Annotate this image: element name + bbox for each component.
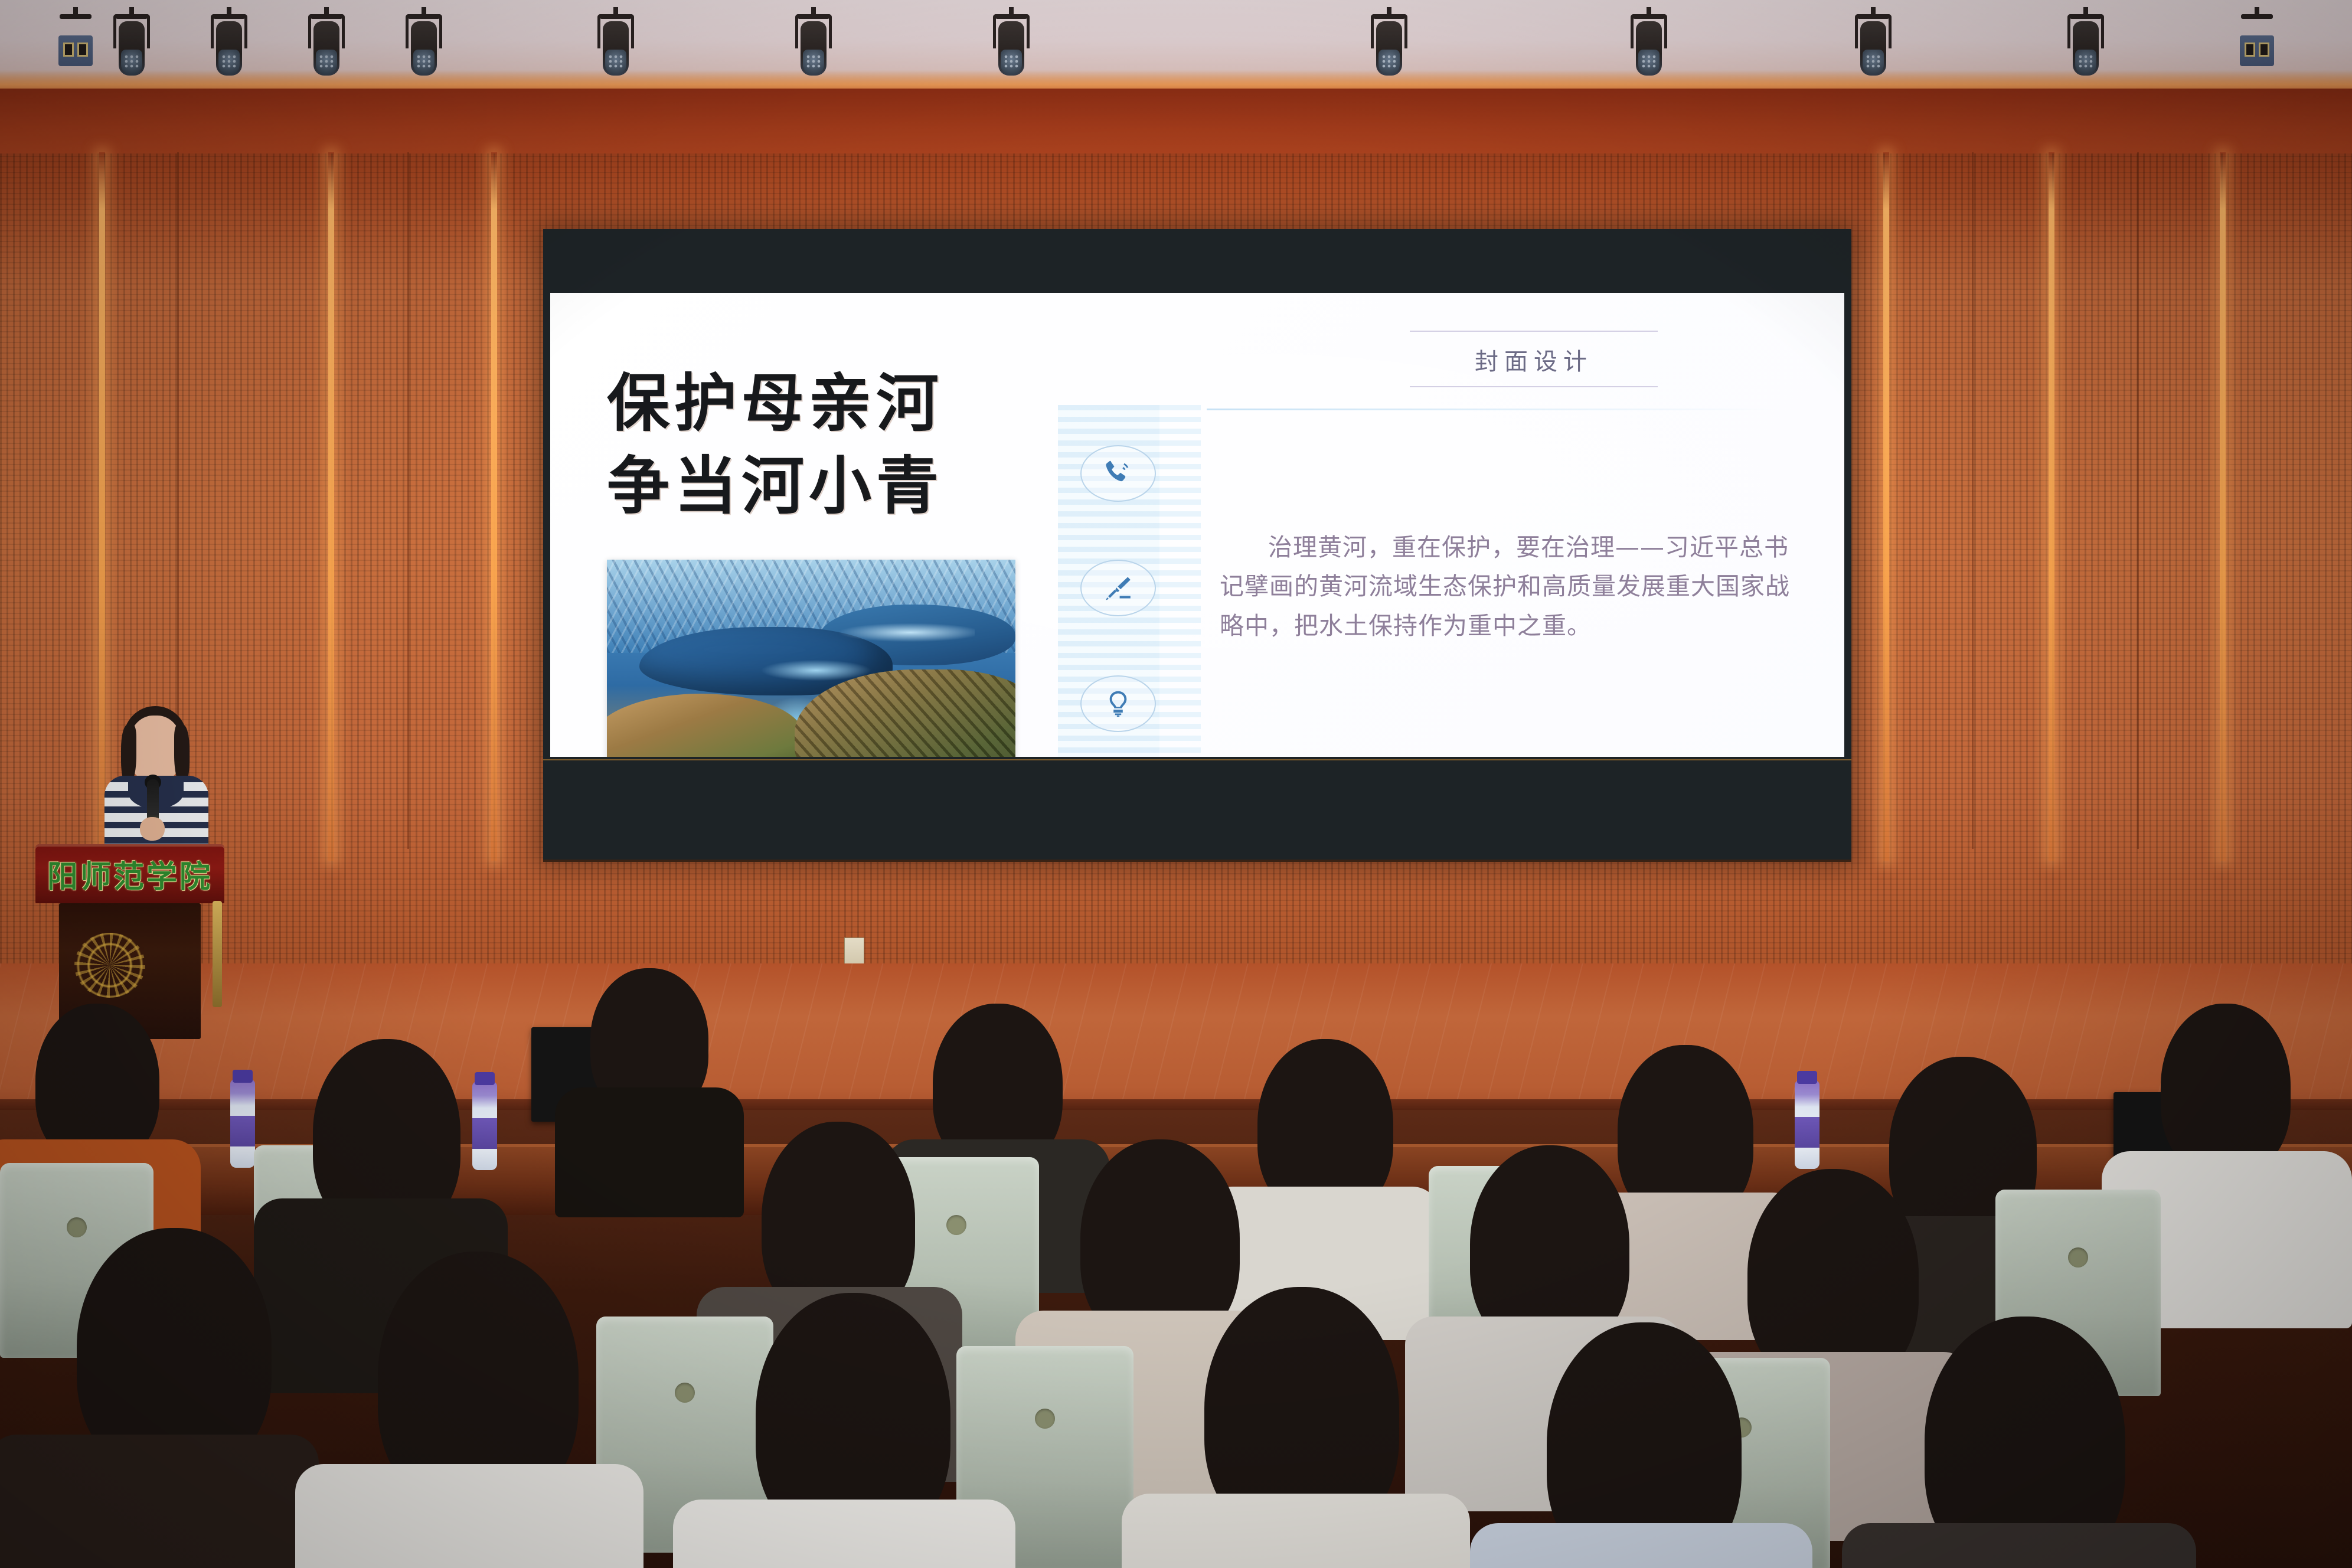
pen-nib-icon[interactable] — [1080, 560, 1156, 616]
stage-par-light — [992, 13, 1031, 78]
wall-panel-edge — [2137, 152, 2139, 849]
wall-light-seam — [2049, 152, 2054, 861]
audience-shoulders — [1122, 1494, 1470, 1568]
podium: 阳师范学院 — [35, 844, 224, 1039]
podium-nameplate: 阳师范学院 — [35, 844, 224, 903]
stage-par-light — [596, 13, 635, 78]
slide-body-text: 治理黄河，重在保护，要在治理——习近平总书记擘画的黄河流域生态保护和高质量发展重… — [1220, 528, 1790, 645]
stage-par-light — [2066, 13, 2105, 78]
slide-section-header: 封面设计 — [1410, 331, 1658, 387]
water-bottle — [1795, 1080, 1819, 1169]
header-rule-bottom — [1410, 386, 1658, 387]
audience-shoulders — [0, 1435, 319, 1568]
stage-par-light — [307, 13, 346, 78]
slide-title-line-1: 保护母亲河 — [607, 367, 943, 440]
stage-par-light — [1370, 13, 1409, 78]
audience-shoulders — [295, 1464, 643, 1568]
water-bottle — [230, 1079, 255, 1168]
lightbulb-icon[interactable] — [1080, 675, 1156, 732]
wall-panel-edge — [1972, 152, 1974, 849]
wall-light-seam — [1883, 152, 1889, 861]
stage-par-light — [794, 13, 833, 78]
wall-top-band — [0, 89, 2352, 153]
yellow-river-aerial-photo — [607, 560, 1015, 757]
audience-shoulders — [1470, 1523, 1812, 1568]
podium-emblem — [74, 933, 145, 998]
stage-par-light — [2237, 13, 2276, 78]
wall-light-seam — [491, 152, 497, 861]
phone-icon[interactable] — [1080, 445, 1156, 502]
audience-shoulders — [555, 1087, 744, 1217]
stage-par-light — [1629, 13, 1668, 78]
wall-panel-edge — [407, 152, 409, 849]
auditorium-scene: 保护母亲河 争当河小青 — [0, 0, 2352, 1568]
stage-par-light — [210, 13, 249, 78]
audience-head — [2161, 1004, 2291, 1175]
presenter — [97, 701, 215, 855]
stage-par-light — [56, 13, 95, 78]
slide-header-label: 封面设计 — [1410, 332, 1658, 386]
audience-shoulders — [673, 1500, 1015, 1568]
slide-title: 保护母亲河 争当河小青 — [607, 362, 1038, 528]
stage-par-light — [1854, 13, 1893, 78]
slide-title-line-2: 争当河小青 — [607, 445, 1038, 528]
slide-divider-line — [1207, 409, 1781, 410]
projection-screen: 保护母亲河 争当河小青 — [543, 229, 1851, 862]
wall-light-seam — [2220, 152, 2226, 861]
stage-par-light — [404, 13, 443, 78]
wall-light-seam — [328, 152, 334, 861]
header-rule-top — [1410, 331, 1658, 332]
icon-band-stripes-fade — [1159, 405, 1201, 757]
presentation-slide: 保护母亲河 争当河小青 — [550, 293, 1844, 757]
stage-par-light — [112, 13, 151, 78]
podium-flag-post — [213, 901, 222, 1007]
podium-sign-text: 阳师范学院 — [47, 852, 213, 896]
water-bottle — [472, 1082, 497, 1170]
audience-shoulders — [1842, 1523, 2196, 1568]
